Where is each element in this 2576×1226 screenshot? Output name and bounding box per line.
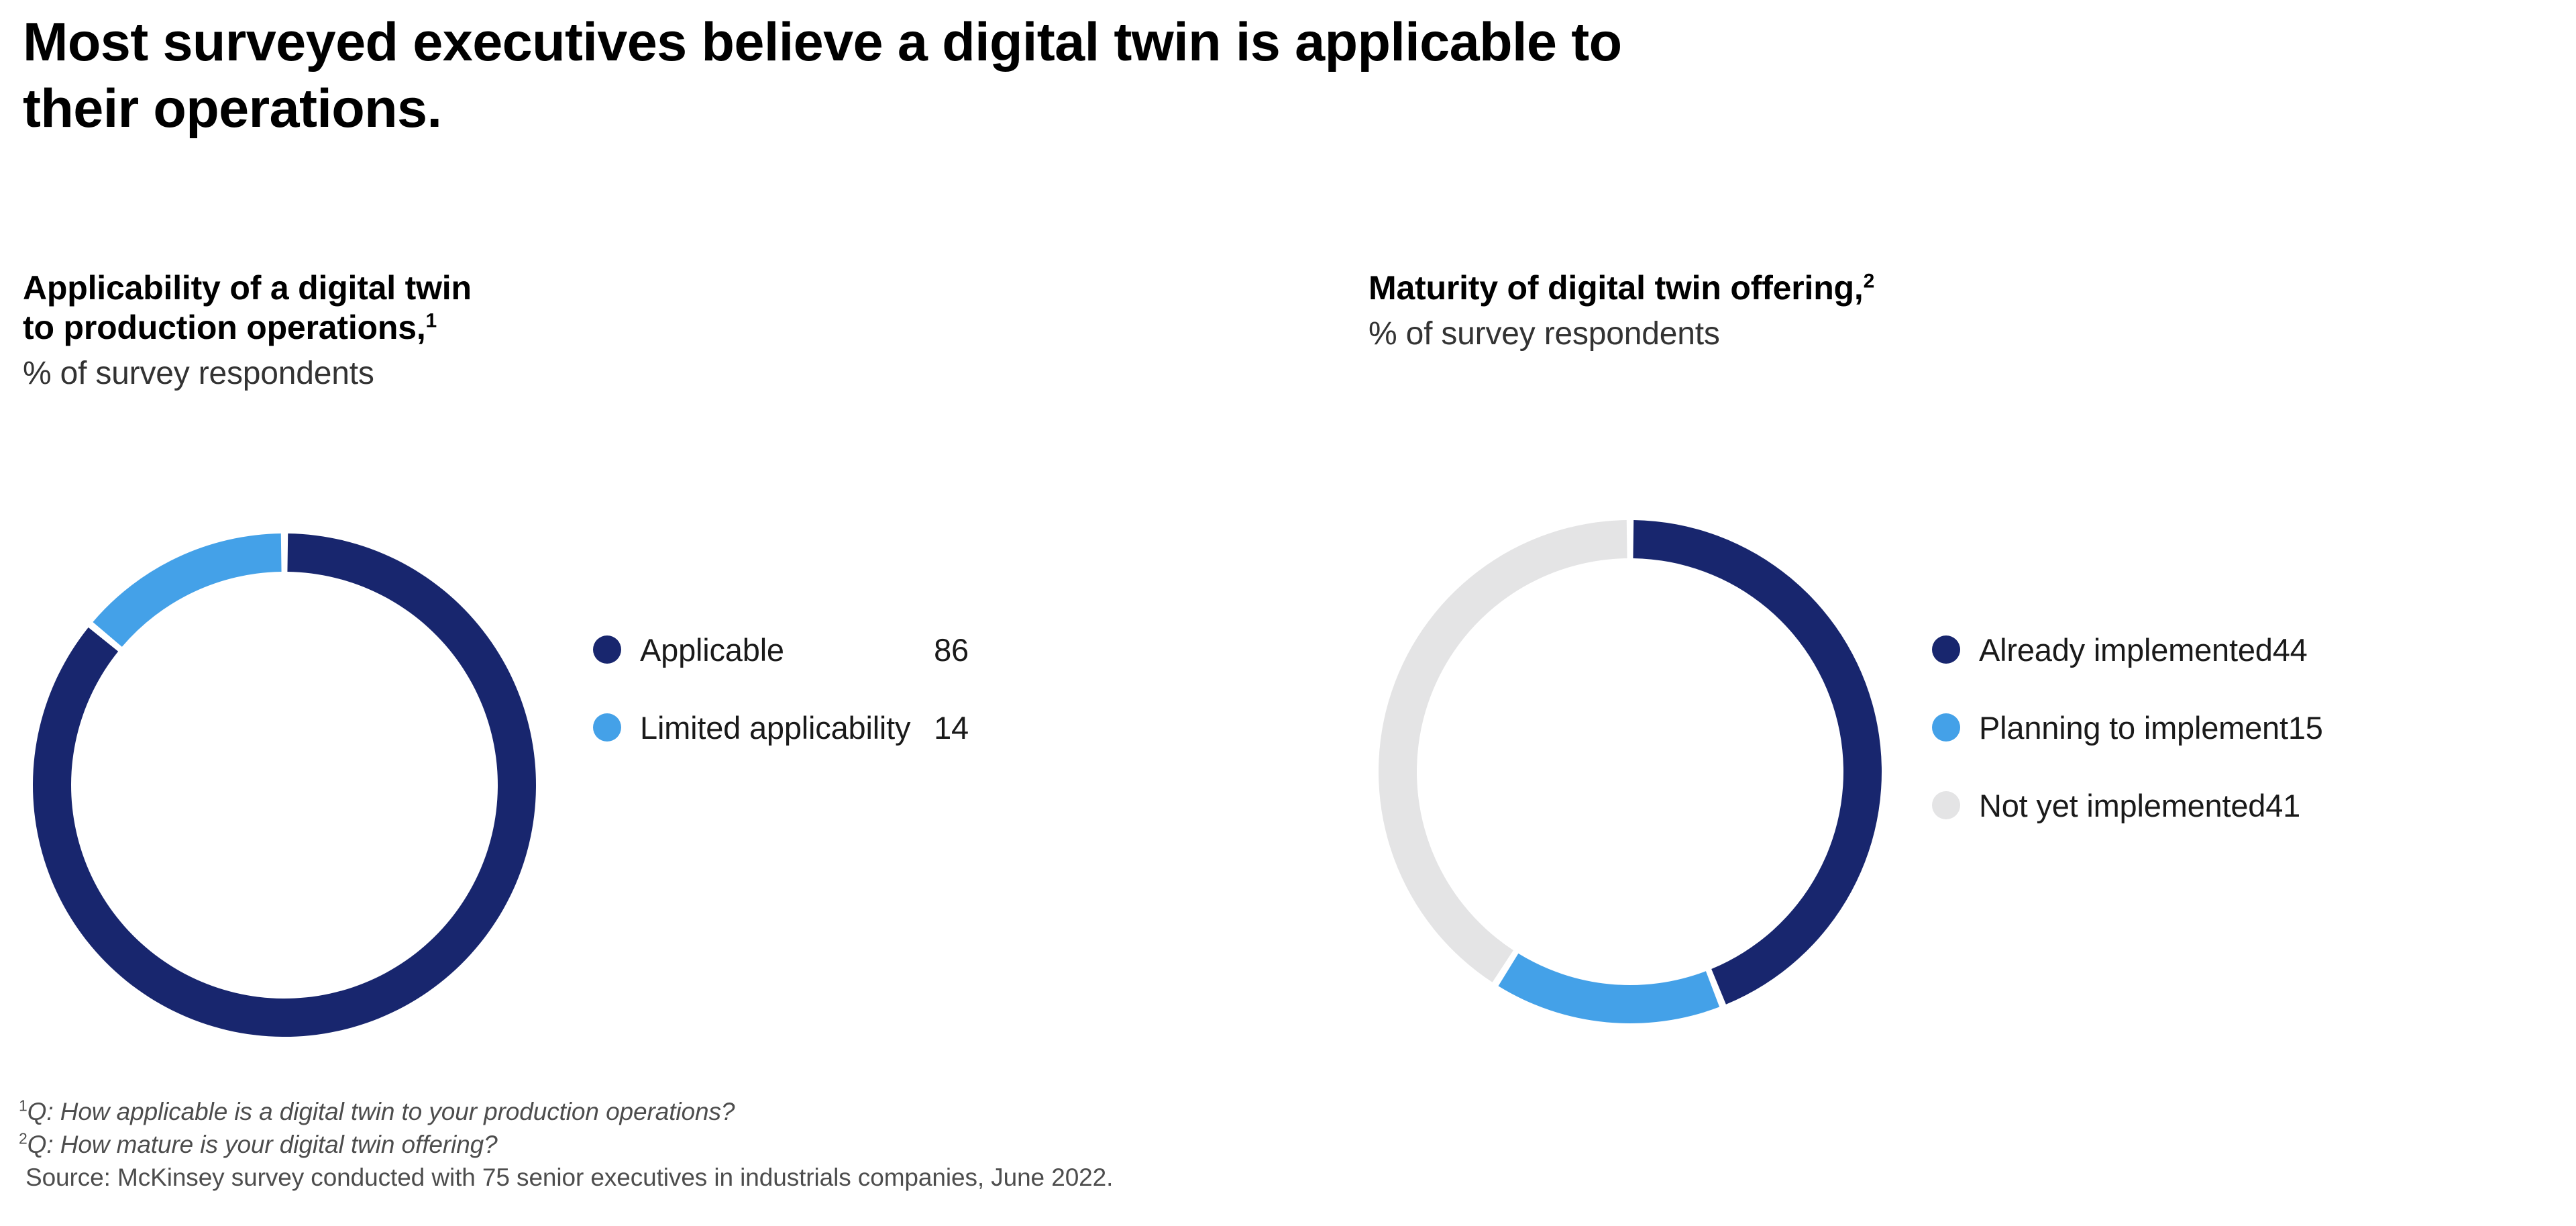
- legend-left: Applicable 86 Limited applicability 14: [593, 625, 969, 752]
- legend-dot-icon: [1932, 791, 1960, 819]
- legend-item-label: Planning to implement: [1979, 712, 2288, 744]
- legend-item-label: Applicable: [640, 634, 934, 666]
- donut-slice[interactable]: [93, 533, 281, 647]
- chart-right-subheading: % of survey respondents: [1368, 315, 2569, 354]
- footnote-1-text: Q: How applicable is a digital twin to y…: [28, 1098, 735, 1125]
- panel-right-headings: Maturity of digital twin offering,2 % of…: [1368, 268, 2569, 354]
- legend-dot-icon: [593, 713, 621, 742]
- donut-slice[interactable]: [1633, 520, 1882, 1005]
- chart-right-heading-superscript: 2: [1864, 270, 1875, 292]
- footnote-2-marker: 2: [19, 1130, 28, 1147]
- legend-item-label: Already implemented: [1979, 634, 2273, 666]
- footnote-2: 2Q: How mature is your digital twin offe…: [19, 1128, 2434, 1161]
- chart-left-container: Applicable 86 Limited applicability 14: [23, 523, 969, 1047]
- panel-left-headings: Applicability of a digital twin to produ…: [23, 268, 1284, 393]
- legend-item[interactable]: Planning to implement 15: [1932, 703, 2294, 752]
- footnote-1: 1Q: How applicable is a digital twin to …: [19, 1095, 2434, 1128]
- legend-item-value: 41: [2265, 790, 2300, 821]
- chart-left-heading-text: Applicability of a digital twin to produ…: [23, 269, 472, 346]
- chart-left-heading: Applicability of a digital twin to produ…: [23, 268, 1284, 348]
- legend-item[interactable]: Already implemented 44: [1932, 625, 2294, 674]
- chart-left-subheading: % of survey respondents: [23, 354, 1284, 393]
- legend-item-value: 15: [2288, 712, 2323, 744]
- legend-item[interactable]: Applicable 86: [593, 625, 969, 674]
- legend-dot-icon: [1932, 635, 1960, 664]
- donut-left-svg: [23, 523, 546, 1047]
- footnote-1-marker: 1: [19, 1097, 28, 1115]
- legend-item[interactable]: Limited applicability 14: [593, 703, 969, 752]
- footnote-source-text: Source: McKinsey survey conducted with 7…: [25, 1164, 1113, 1191]
- footnote-2-text: Q: How mature is your digital twin offer…: [28, 1131, 498, 1158]
- legend-item-label: Not yet implemented: [1979, 790, 2265, 821]
- legend-right: Already implemented 44 Planning to imple…: [1932, 625, 2294, 829]
- donut-chart-right: [1368, 510, 1892, 1033]
- donut-slice[interactable]: [1379, 520, 1627, 982]
- chart-right-heading: Maturity of digital twin offering,2: [1368, 268, 2569, 308]
- legend-item-value: 14: [934, 712, 969, 744]
- legend-item-value: 44: [2273, 634, 2308, 666]
- chart-left-heading-superscript: 1: [426, 309, 437, 331]
- footnote-source: Source: McKinsey survey conducted with 7…: [19, 1161, 2434, 1194]
- legend-item[interactable]: Not yet implemented 41: [1932, 781, 2294, 829]
- legend-item-value: 86: [934, 634, 969, 666]
- legend-item-label: Limited applicability: [640, 712, 934, 744]
- donut-right-svg: [1368, 510, 1892, 1033]
- legend-dot-icon: [1932, 713, 1960, 742]
- chart-right-heading-text: Maturity of digital twin offering,: [1368, 269, 1864, 307]
- donut-slice[interactable]: [1499, 954, 1720, 1023]
- page-title: Most surveyed executives believe a digit…: [23, 9, 2237, 142]
- legend-dot-icon: [593, 635, 621, 664]
- footnotes: 1Q: How applicable is a digital twin to …: [19, 1095, 2434, 1194]
- chart-right-container: Already implemented 44 Planning to imple…: [1368, 510, 2294, 1033]
- donut-chart-left: [23, 523, 546, 1047]
